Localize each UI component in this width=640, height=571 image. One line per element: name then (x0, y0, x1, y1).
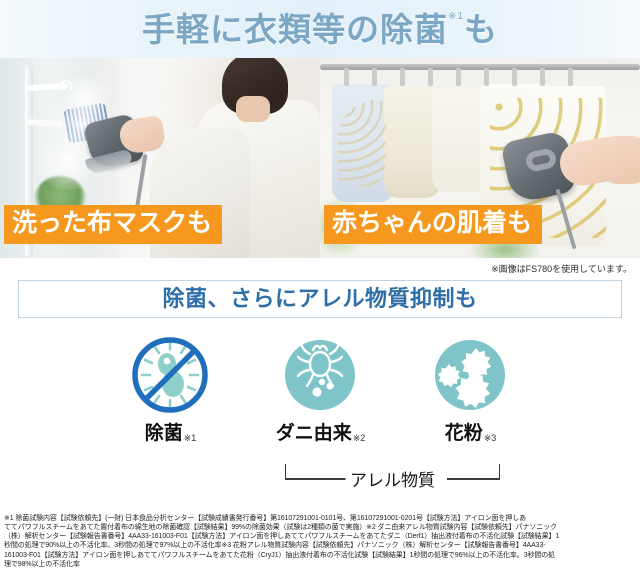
footnote-line: 秒間の処理で90%以上の不活化率。3秒間の処理で97%以上の不活化率※3 花粉ア… (4, 541, 636, 550)
benefit-footnote-marker: ※3 (484, 433, 497, 443)
pollen-icon (427, 332, 513, 418)
benefit-item-dust-mite: ダニ由来※2 (245, 332, 395, 443)
page-title-footnote-marker: ※1 (448, 11, 464, 22)
clothes-pin (400, 68, 405, 86)
footnote-line: 理で98%以上の不活化率 (4, 560, 636, 569)
page-title-suffix: も (464, 11, 498, 48)
clothes-pin (372, 68, 377, 86)
footnotes: ※1 除菌試験内容【試験依頼先】(一財) 日本食品分析センター【試験成績書発行番… (0, 510, 640, 569)
benefit-label-text: 除菌 (145, 423, 183, 444)
clothes-pin (568, 68, 573, 86)
clothes-hanger-bar (320, 64, 640, 70)
clothes-pin (484, 68, 489, 86)
benefit-footnote-marker: ※2 (353, 433, 366, 443)
bracket-line-right (447, 478, 499, 480)
benefit-label-text: ダニ由来 (276, 423, 352, 444)
clothes-pin (428, 68, 433, 86)
benefit-icons-row: 除菌※1 (0, 332, 640, 460)
benefit-label-dust-mite: ダニ由来※2 (276, 424, 365, 443)
photo-washed-cloth-mask: 洗った布マスクも (0, 58, 320, 258)
benefit-label-pollen: 花粉※3 (445, 424, 496, 443)
section-heading-box: 除菌、さらにアレル物質抑制も (18, 280, 622, 318)
photo-band: 洗った布マスクも 赤ちゃんの肌着も (0, 58, 640, 258)
dust-mite-icon (277, 332, 363, 418)
page-title: 手軽に衣類等の除菌※1も (142, 13, 498, 46)
benefit-label-sterilization: 除菌※1 (145, 424, 196, 443)
footnote-line: 161003-F01【試験方法】アイロン面を押しあててパワフルスチームをあてた花… (4, 551, 636, 560)
allergen-bracket-row: アレル物質 (0, 462, 640, 496)
clothes-pin (540, 68, 545, 86)
benefit-item-pollen: 花粉※3 (395, 332, 545, 443)
person-arm (602, 136, 640, 184)
clothes-pin (456, 68, 461, 86)
clothes-pin (512, 68, 517, 86)
allergen-bracket: アレル物質 (285, 464, 500, 480)
page-title-text: 手軽に衣類等の除菌 (142, 11, 448, 48)
steam-cloud (58, 76, 114, 116)
clothes-pin (344, 68, 349, 86)
section-wrap: 除菌、さらにアレル物質抑制も (0, 280, 640, 318)
benefit-label-text: 花粉 (445, 423, 483, 444)
page-header: 手軽に衣類等の除菌※1も (0, 0, 640, 58)
allergen-bracket-label: アレル物質 (345, 472, 440, 489)
person-neck (236, 96, 270, 122)
photo-baby-underwear: 赤ちゃんの肌着も (320, 58, 640, 258)
image-note-row: ※画像はFS780を使用しています。 (0, 258, 640, 278)
image-note: ※画像はFS780を使用しています。 (491, 262, 632, 275)
section-title: 除菌、さらにアレル物質抑制も (162, 288, 477, 310)
footnote-line: ててパワフルスチームをあてた置付着布の綿生地の除菌確認【試験結果】99%の除菌効… (4, 523, 636, 532)
photo-caption-mask: 洗った布マスクも (4, 205, 222, 244)
bracket-line-left (286, 478, 348, 480)
footnote-line: ※1 除菌試験内容【試験依頼先】(一財) 日本食品分析センター【試験成績書発行番… (4, 514, 636, 523)
photo-caption-baby: 赤ちゃんの肌着も (324, 205, 542, 244)
benefit-footnote-marker: ※1 (184, 433, 197, 443)
footnote-line: （株）解析センター【試験報告書番号】4AA33-161003-F01【試験方法】… (4, 532, 636, 541)
benefit-item-sterilization: 除菌※1 (95, 332, 245, 443)
no-bacteria-icon (127, 332, 213, 418)
